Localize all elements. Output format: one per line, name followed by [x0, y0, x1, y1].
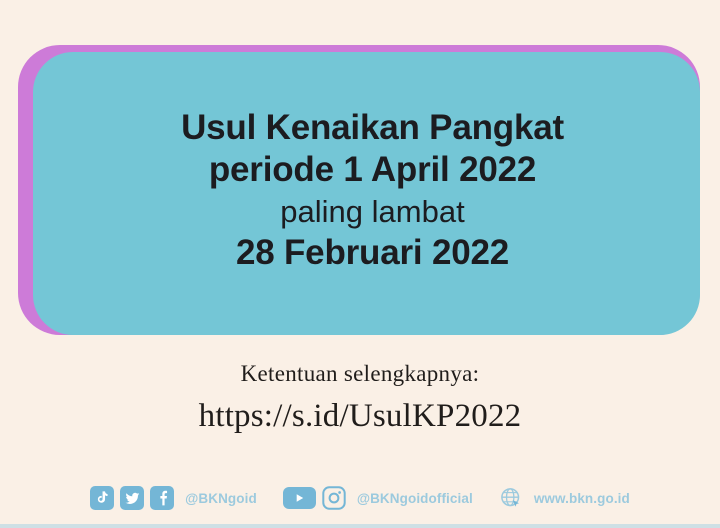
handle-bkngoid: @BKNgoid: [185, 491, 257, 506]
hero-line-4: 28 Februari 2022: [57, 233, 688, 274]
footer-social-strip: @BKNgoid @BKNgoidofficial: [0, 478, 720, 518]
hero-card: Usul Kenaikan Pangkat periode 1 April 20…: [33, 52, 700, 335]
globe-icon[interactable]: [499, 486, 523, 510]
cta-url-link[interactable]: https://s.id/UsulKP2022: [0, 395, 720, 438]
social-group-bkngoid: @BKNgoid: [90, 486, 257, 510]
cta-block: Ketentuan selengkapnya: https://s.id/Usu…: [0, 360, 720, 438]
handle-bkngoidofficial: @BKNgoidofficial: [357, 491, 473, 506]
youtube-icon[interactable]: [283, 486, 316, 510]
social-group-website: www.bkn.go.id: [499, 486, 630, 510]
instagram-icon[interactable]: [322, 486, 346, 510]
tiktok-icon[interactable]: [90, 486, 114, 510]
cta-label: Ketentuan selengkapnya:: [0, 360, 720, 389]
hero-section: Usul Kenaikan Pangkat periode 1 April 20…: [0, 0, 720, 345]
twitter-icon[interactable]: [120, 486, 144, 510]
facebook-icon[interactable]: [150, 486, 174, 510]
hero-line-1: Usul Kenaikan Pangkat: [57, 108, 688, 149]
handle-website[interactable]: www.bkn.go.id: [534, 491, 630, 506]
poster-canvas: Usul Kenaikan Pangkat periode 1 April 20…: [0, 0, 720, 528]
social-group-bkngoidofficial: @BKNgoidofficial: [283, 486, 473, 510]
hero-line-2: periode 1 April 2022: [57, 150, 688, 191]
footer-baseline-rule: [0, 524, 720, 528]
hero-text-block: Usul Kenaikan Pangkat periode 1 April 20…: [39, 108, 706, 280]
hero-line-3: paling lambat: [57, 194, 688, 230]
